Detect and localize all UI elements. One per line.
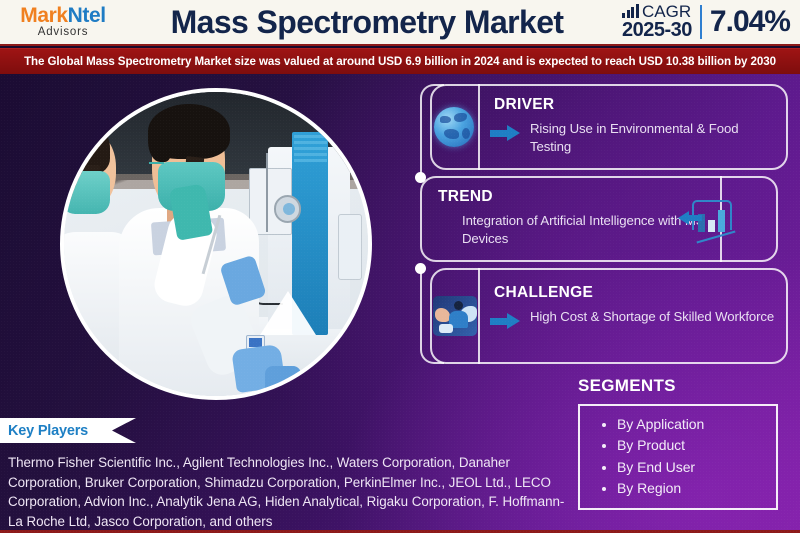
globe-icon: [434, 107, 474, 147]
card-trend-text: Integration of Artificial Intelligence w…: [462, 212, 712, 247]
card-driver[interactable]: DRIVER Rising Use in Environmental & Foo…: [430, 84, 788, 170]
cagr-label: CAGR: [642, 3, 691, 20]
cagr-period: 2025-30: [622, 20, 692, 40]
people-cost-icon: [433, 296, 477, 336]
card-challenge-divider: [478, 268, 480, 364]
card-challenge[interactable]: CHALLENGE High Cost & Shortage of Skille…: [430, 268, 788, 364]
chart-arrow-icon: [678, 198, 740, 242]
cagr-divider: [700, 5, 702, 39]
scientist1-mask-strap: [149, 162, 164, 164]
logo-wordmark: MarkNtel: [8, 5, 118, 26]
brand-logo[interactable]: MarkNtel Advisors: [0, 5, 118, 39]
segments-title: SEGMENTS: [578, 376, 676, 396]
cagr-block: CAGR 2025-30 7.04%: [622, 3, 800, 41]
instrument-vents: [294, 135, 327, 162]
cagr-label-row: CAGR: [622, 3, 692, 20]
segment-item[interactable]: By End User: [602, 457, 776, 478]
arrow-right-icon-driver: [490, 125, 520, 141]
photo-bottle: [338, 214, 362, 281]
photo-cone: [260, 291, 316, 335]
market-size-banner: The Global Mass Spectrometry Market size…: [0, 48, 800, 74]
scientist3-glove-second: [265, 366, 301, 396]
segment-item[interactable]: By Region: [602, 478, 776, 499]
lab-photo: [60, 88, 372, 400]
logo-subtitle: Advisors: [8, 27, 118, 39]
arrow-right-icon-challenge: [490, 313, 520, 329]
logo-part-mark: Mark: [20, 4, 67, 27]
card-driver-text: Rising Use in Environmental & Food Testi…: [530, 120, 770, 155]
segment-item[interactable]: By Product: [602, 435, 776, 456]
card-driver-divider: [478, 84, 480, 170]
key-players-label: Key Players: [0, 423, 88, 439]
key-players-ribbon: Key Players: [0, 418, 136, 443]
segment-item[interactable]: By Application: [602, 414, 776, 435]
scientist1-sideburn: [148, 119, 172, 162]
cagr-label-group: CAGR 2025-30: [622, 3, 692, 41]
card-challenge-label: CHALLENGE: [494, 284, 593, 302]
infographic-page: MarkNtel Advisors Mass Spectrometry Mark…: [0, 0, 800, 533]
scientist2-mask: [61, 171, 110, 214]
card-trend-label: TREND: [438, 188, 493, 206]
bar-chart-icon: [622, 4, 639, 19]
content-stage: Key Players Thermo Fisher Scientific Inc…: [0, 74, 800, 533]
card-challenge-text: High Cost & Shortage of Skilled Workforc…: [530, 308, 775, 326]
key-players-list: Thermo Fisher Scientific Inc., Agilent T…: [8, 453, 568, 532]
card-trend[interactable]: TREND Integration of Artificial Intellig…: [420, 176, 778, 262]
instrument-tube: [266, 153, 268, 232]
card-driver-label: DRIVER: [494, 96, 554, 114]
logo-part-ntel: Ntel: [68, 4, 106, 27]
insight-cards: DRIVER Rising Use in Environmental & Foo…: [420, 84, 792, 374]
page-title: Mass Spectrometry Market: [112, 4, 622, 41]
cagr-value: 7.04%: [710, 5, 790, 39]
connector-dot-bottom: [415, 263, 426, 274]
header-bar: MarkNtel Advisors Mass Spectrometry Mark…: [0, 0, 800, 46]
segments-box: By Application By Product By End User By…: [578, 404, 778, 510]
